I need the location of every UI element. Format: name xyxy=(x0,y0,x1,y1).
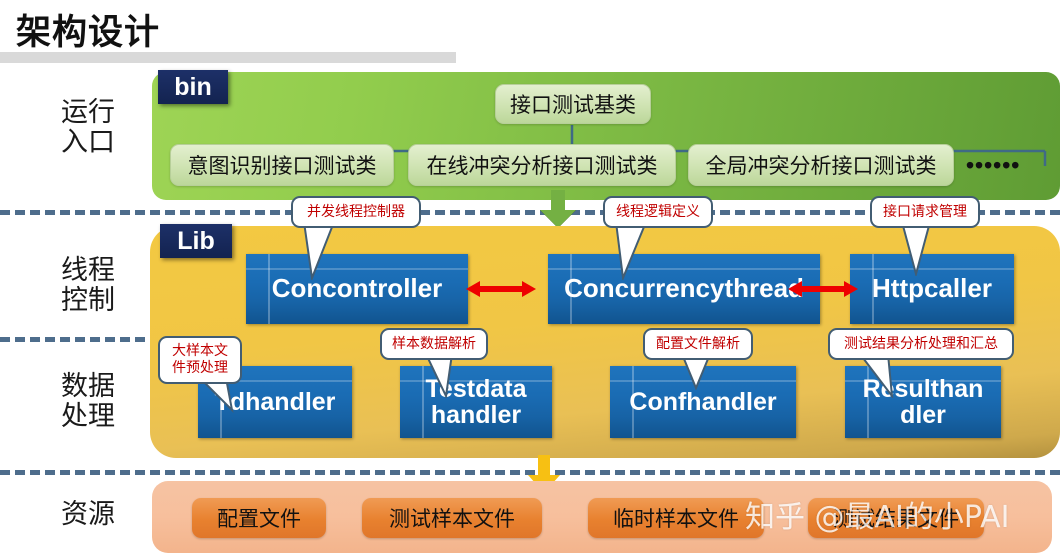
title-underline-rule xyxy=(0,52,456,63)
module-box-concurrencythread[interactable]: Concurrencythread xyxy=(548,254,820,324)
callout-concontroller: 并发线程控制器 xyxy=(291,196,421,228)
row-label-data-processing: 数据 处理 xyxy=(34,372,142,432)
page-title: 架构设计 xyxy=(16,4,160,55)
callout-tail-concontroller xyxy=(300,222,350,280)
resource-box-test-result-file[interactable]: 测试结果文件 xyxy=(808,498,984,538)
resource-box-config-file[interactable]: 配置文件 xyxy=(192,498,326,538)
bidirectional-arrow-1 xyxy=(466,277,536,301)
callout-tail-concurrencythread xyxy=(612,222,662,280)
module-box-concontroller[interactable]: Concontroller xyxy=(246,254,468,324)
resource-box-temp-sample-file[interactable]: 临时样本文件 xyxy=(588,498,764,538)
row-label-thread-control: 线程 控制 xyxy=(34,256,142,316)
callout-tail-resulthandler xyxy=(858,354,908,398)
callout-tdhandler: 大样本文 件预处理 xyxy=(158,336,242,384)
test-class-box-global[interactable]: 全局冲突分析接口测试类 xyxy=(688,144,954,186)
resource-box-test-sample-file[interactable]: 测试样本文件 xyxy=(362,498,542,538)
callout-tail-testdatahandler xyxy=(424,354,470,398)
flow-arrow-down-green xyxy=(540,190,576,228)
test-class-box-intent[interactable]: 意图识别接口测试类 xyxy=(170,144,394,186)
module-box-testdatahandler[interactable]: Testdata handler xyxy=(400,366,552,438)
callout-resulthandler: 测试结果分析处理和汇总 xyxy=(828,328,1014,360)
callout-concurrencythread: 线程逻辑定义 xyxy=(603,196,713,228)
base-test-class-box[interactable]: 接口测试基类 xyxy=(495,84,651,124)
callout-testdatahandler: 样本数据解析 xyxy=(380,328,488,360)
row-label-resources: 资源 xyxy=(34,500,142,530)
badge-bin: bin xyxy=(158,70,228,104)
bidirectional-arrow-2 xyxy=(788,277,858,301)
badge-lib: Lib xyxy=(160,224,232,258)
callout-httpcaller: 接口请求管理 xyxy=(870,196,980,228)
test-class-box-online[interactable]: 在线冲突分析接口测试类 xyxy=(408,144,676,186)
row-label-run-entry: 运行 入口 xyxy=(34,98,142,158)
callout-tail-httpcaller xyxy=(900,222,946,276)
test-class-ellipsis: •••••• xyxy=(966,152,1046,178)
callout-confhandler: 配置文件解析 xyxy=(643,328,753,360)
